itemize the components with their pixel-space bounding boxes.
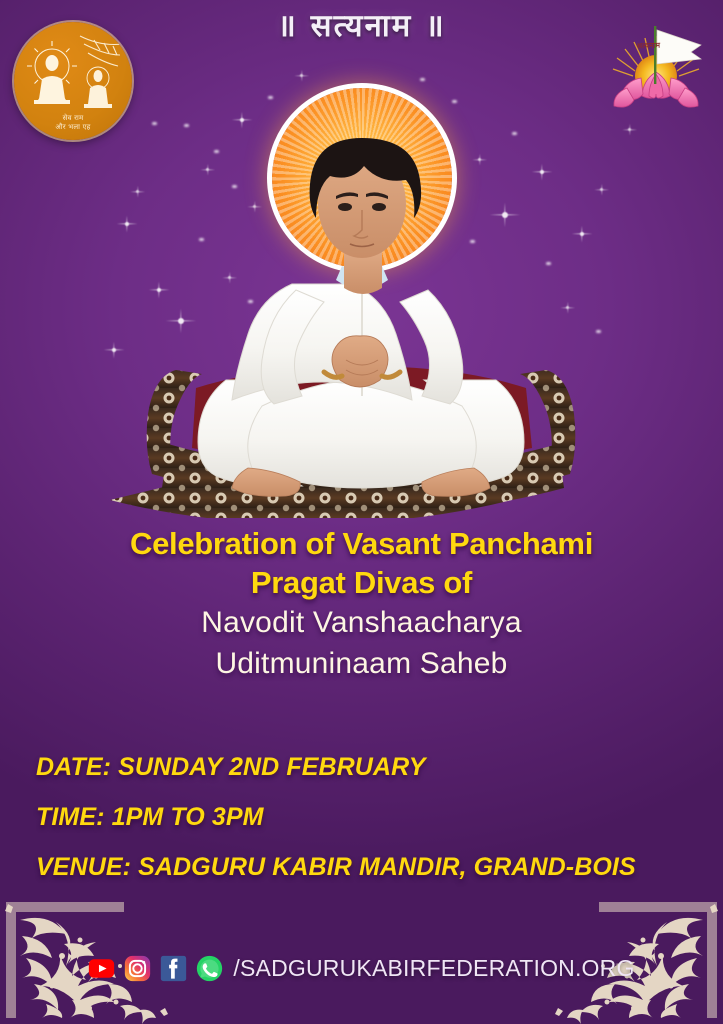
headline-block: Celebration of Vasant Panchami Pragat Di… bbox=[0, 524, 723, 684]
poster-canvas: ॥ सत्यनाम ॥ bbox=[0, 0, 723, 1024]
headline-line-2: Pragat Divas of bbox=[0, 563, 723, 602]
honoree-name-line-1: Navodit Vanshaacharya bbox=[0, 602, 723, 643]
facebook-icon[interactable] bbox=[160, 955, 187, 982]
whatsapp-icon[interactable] bbox=[196, 955, 223, 982]
instagram-icon[interactable] bbox=[124, 955, 151, 982]
emblem-caption: सेव राम और भला एह bbox=[14, 114, 132, 131]
flag-label: सत्यनाम bbox=[637, 41, 661, 52]
kabir-guru-emblem[interactable]: सेव राम और भला एह bbox=[14, 22, 132, 140]
lotus-flag-emblem[interactable]: सत्यनाम bbox=[597, 14, 715, 136]
honoree-name-line-2: Uditmuninaam Saheb bbox=[0, 643, 723, 684]
seated-saint-portrait bbox=[0, 88, 723, 518]
lotus-flag-emblem-icon bbox=[597, 14, 715, 136]
event-venue: VENUE: SADGURU KABIR MANDIR, GRAND-BOIS bbox=[36, 842, 696, 892]
footer-social-bar: /SADGURUKABIRFEDERATION.ORG bbox=[0, 955, 723, 982]
headline-line-1: Celebration of Vasant Panchami bbox=[0, 524, 723, 563]
website-url[interactable]: /SADGURUKABIRFEDERATION.ORG bbox=[233, 955, 634, 982]
saint-figure-illustration bbox=[0, 88, 723, 518]
event-date: DATE: SUNDAY 2ND FEBRUARY bbox=[36, 742, 696, 792]
event-details: DATE: SUNDAY 2ND FEBRUARY TIME: 1PM TO 3… bbox=[36, 742, 696, 892]
youtube-icon[interactable] bbox=[88, 955, 115, 982]
event-time: TIME: 1PM TO 3PM bbox=[36, 792, 696, 842]
